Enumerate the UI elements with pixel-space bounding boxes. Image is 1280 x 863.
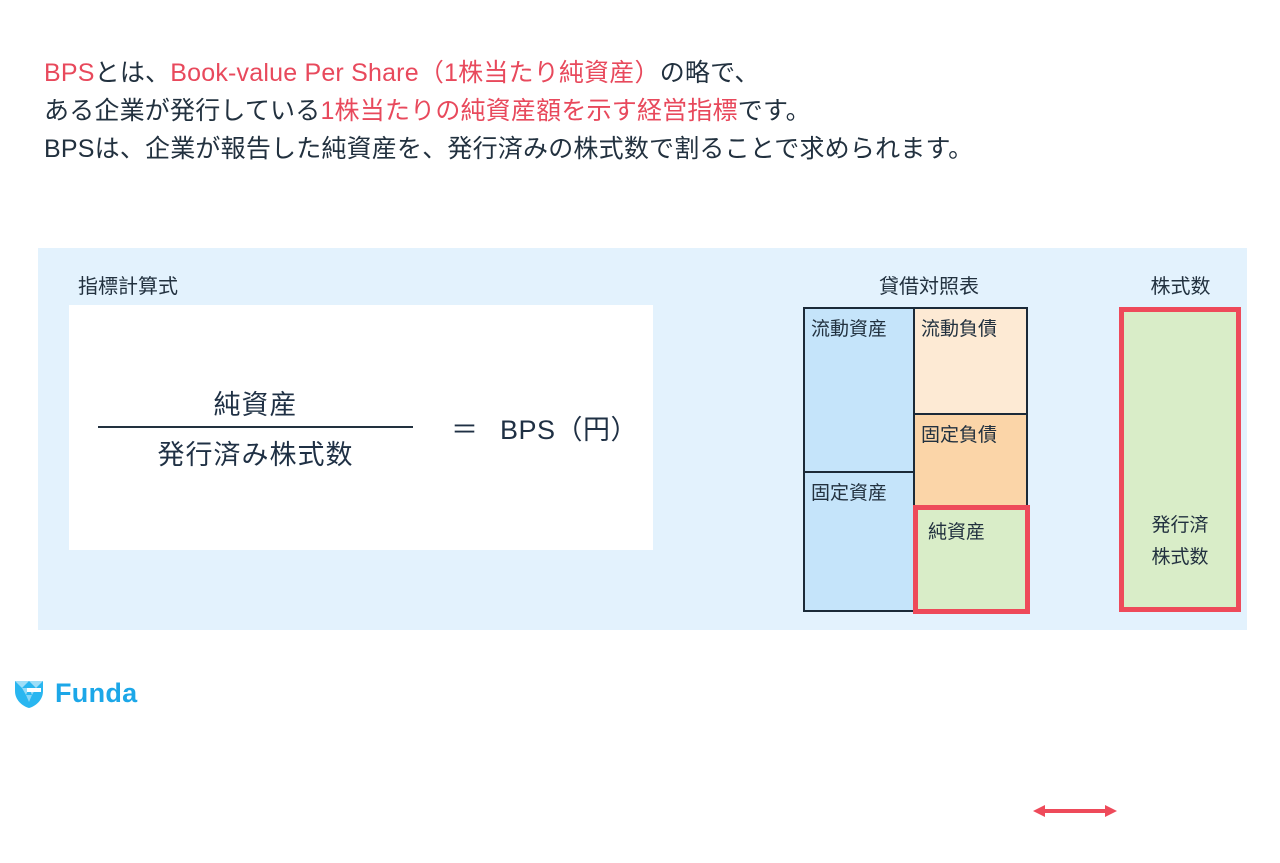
bs-cell-current-liabilities: 流動負債 [913,309,1026,415]
balance-sheet-title: 貸借対照表 [814,270,1044,299]
bs-cell-net-assets: 純資産 [913,505,1030,614]
formula-numerator: 純資産 [199,383,311,426]
intro-line-2: ある企業が発行している1株当たりの純資産額を示す経営指標です。 [44,92,1244,130]
bs-cell-fixed-liabilities: 固定負債 [913,415,1026,510]
intro-line2-part3: です。 [738,97,811,125]
formula-result: BPS（円） [500,408,638,447]
intro-line-1: BPSとは、Book-value Per Share（1株当たり純資産）の略で、 [44,54,1244,92]
intro-line2-part1: ある企業が発行している [44,97,320,125]
diamond-icon [12,676,46,710]
intro-paragraph: BPSとは、Book-value Per Share（1株当たり純資産）の略で、… [44,54,1244,168]
formula-content: 純資産 発行済み株式数 ＝ BPS（円） [69,305,653,550]
funda-logo: Funda [12,676,138,710]
shares-label-line1: 発行済 [1124,510,1236,542]
intro-line-3: BPSは、企業が報告した純資産を、発行済みの株式数で割ることで求められます。 [44,130,1244,168]
intro-line1-part2: とは、 [95,59,171,87]
formula-denominator: 発行済み株式数 [143,428,367,472]
formula-fraction: 純資産 発行済み株式数 [98,383,413,472]
bs-cell-fixed-assets: 固定資産 [805,473,913,610]
bs-cell-current-assets: 流動資産 [805,309,913,473]
shares-column-label: 発行済 株式数 [1124,510,1236,574]
balance-sheet-diagram: 流動資産 固定資産 流動負債 固定負債 純資産 [803,307,1028,863]
shares-label-line2: 株式数 [1124,542,1236,574]
funda-logo-text: Funda [55,678,138,709]
formula-box: 純資産 発行済み株式数 ＝ BPS（円） [69,305,653,550]
double-arrow-icon [1033,804,1117,818]
formula-caption: 指標計算式 [78,270,178,299]
intro-line1-part4: の略で、 [660,59,760,87]
shares-column-box: 発行済 株式数 [1119,307,1241,612]
intro-term-bookvalue: Book-value Per Share（1株当たり純資産） [170,59,660,87]
intro-term-bps: BPS [44,59,95,87]
diagram-panel: 指標計算式 純資産 発行済み株式数 ＝ BPS（円） 貸借対照表 流動資産 固定… [38,248,1247,630]
shares-column-title: 株式数 [1113,270,1248,299]
equals-sign: ＝ [451,408,478,447]
intro-term-per-share: 1株当たりの純資産額を示す経営指標 [320,97,737,125]
